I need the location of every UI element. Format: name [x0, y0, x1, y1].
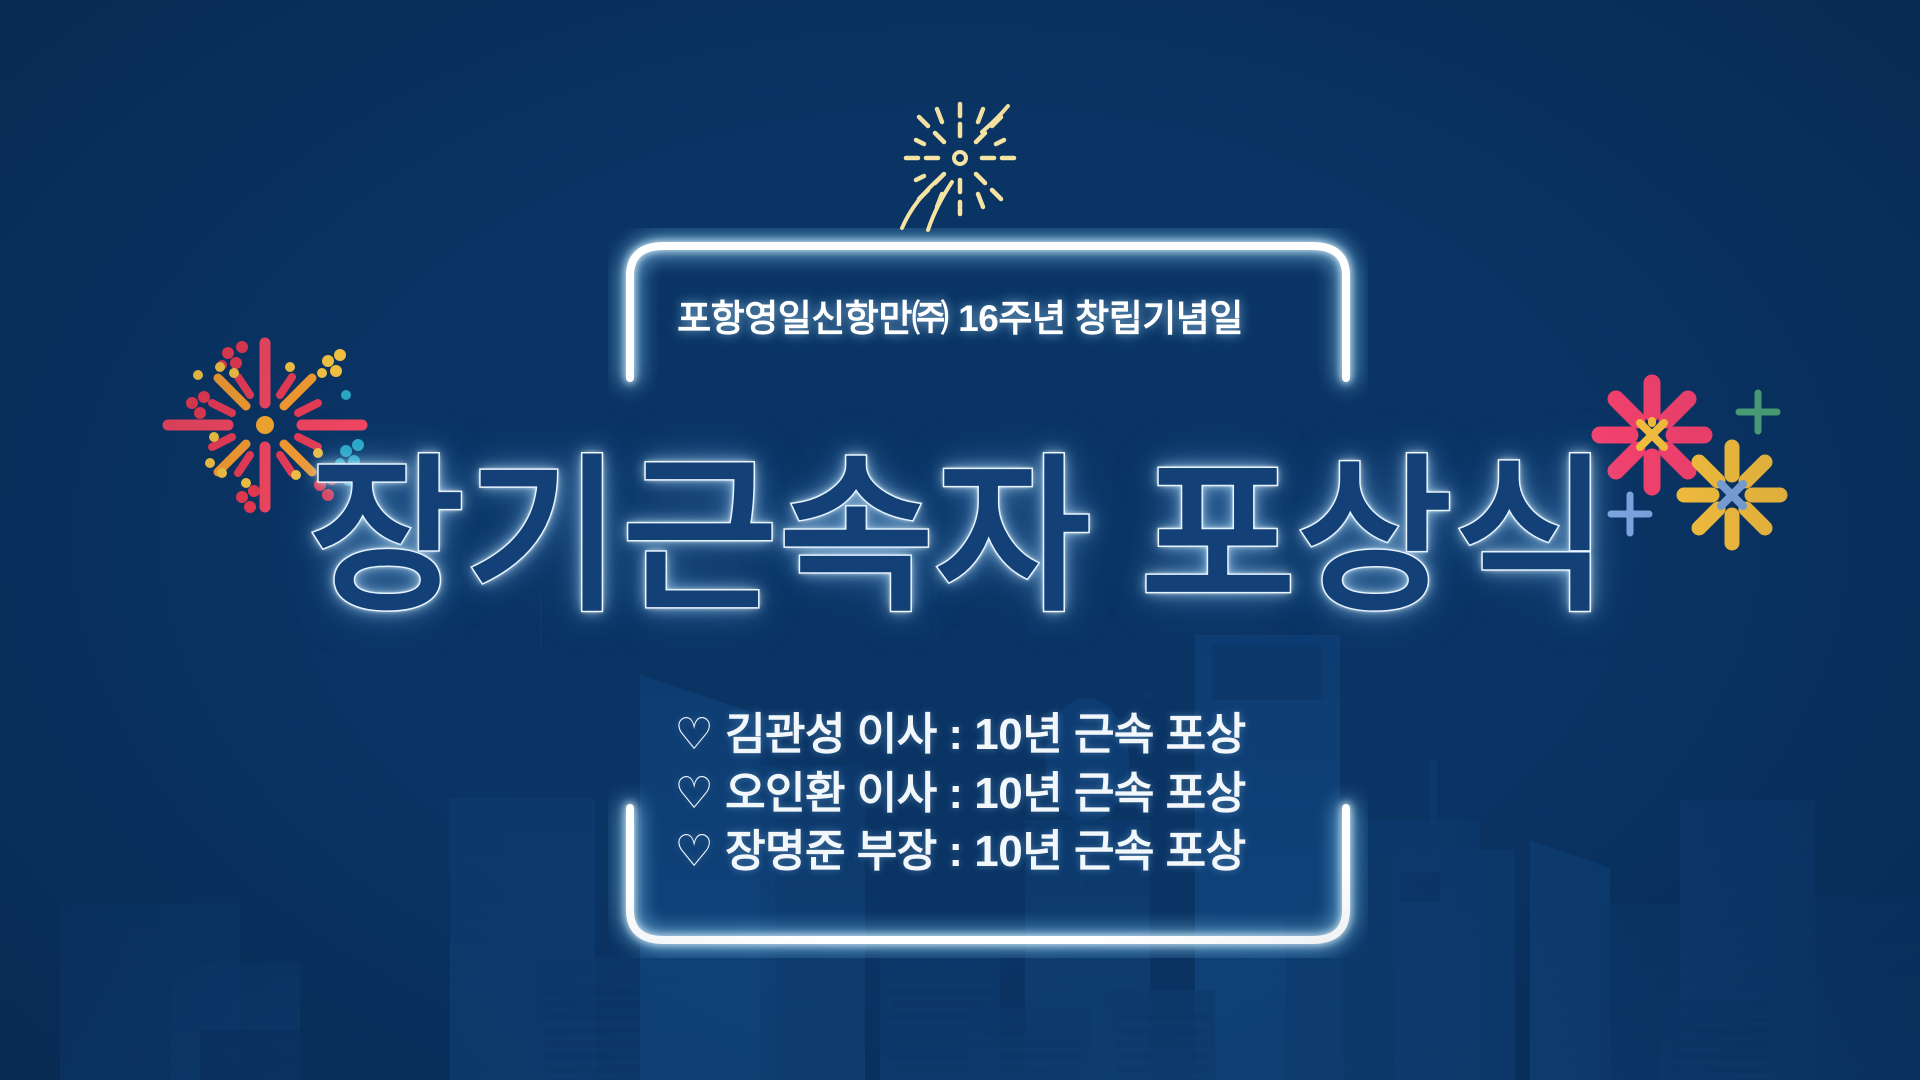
list-item: ♡ 김관성 이사 : 10년 근속 포상 — [0, 706, 1920, 765]
slide-content: 포항영일신항만㈜ 16주년 창립기념일 장기근속자 포상식 ♡ 김관성 이사 :… — [0, 0, 1920, 1080]
award-text: ♡ 장명준 부장 : 10년 근속 포상 — [674, 827, 1245, 876]
page-title: 장기근속자 포상식 — [0, 447, 1920, 628]
list-item: ♡ 장명준 부장 : 10년 근속 포상 — [0, 823, 1920, 882]
award-list: ♡ 김관성 이사 : 10년 근속 포상 ♡ 오인환 이사 : 10년 근속 포… — [0, 706, 1920, 882]
award-text: ♡ 김관성 이사 : 10년 근속 포상 — [674, 710, 1245, 759]
event-subtitle: 포항영일신항만㈜ 16주년 창립기념일 — [0, 288, 1920, 342]
slide-canvas: 포항영일신항만㈜ 16주년 창립기념일 장기근속자 포상식 ♡ 김관성 이사 :… — [0, 0, 1920, 1080]
list-item: ♡ 오인환 이사 : 10년 근속 포상 — [0, 765, 1920, 824]
award-text: ♡ 오인환 이사 : 10년 근속 포상 — [674, 769, 1245, 818]
